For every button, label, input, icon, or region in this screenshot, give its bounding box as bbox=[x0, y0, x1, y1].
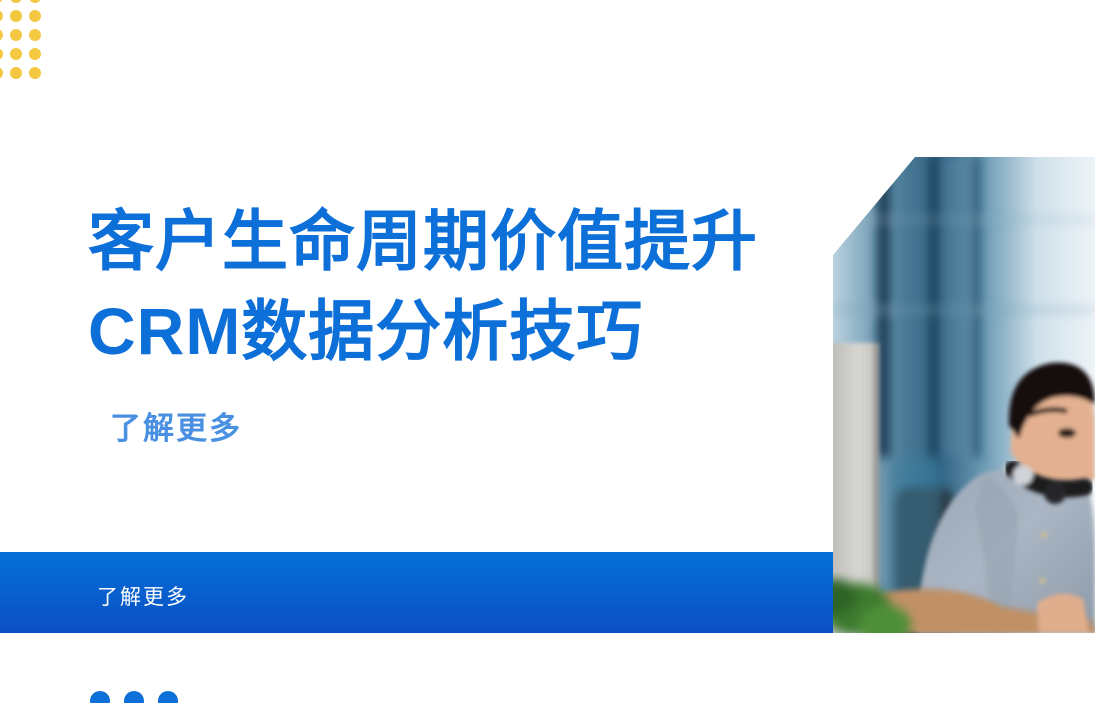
grid-dot bbox=[10, 48, 22, 60]
headline-line-2: CRM数据分析技巧 bbox=[88, 286, 828, 376]
page-title: 客户生命周期价值提升 CRM数据分析技巧 bbox=[88, 196, 828, 376]
headline-line-1: 客户生命周期价值提升 bbox=[88, 196, 828, 286]
cta-learn-more-label[interactable]: 了解更多 bbox=[97, 585, 189, 611]
grid-dot bbox=[10, 67, 22, 79]
grid-dot bbox=[29, 10, 41, 22]
carousel-dot-3[interactable] bbox=[158, 691, 178, 703]
grid-dot bbox=[29, 0, 41, 3]
grid-dot bbox=[29, 29, 41, 41]
grid-dot bbox=[10, 0, 22, 3]
grid-dot bbox=[10, 29, 22, 41]
grid-dot bbox=[0, 29, 3, 41]
yellow-dot-grid-icon bbox=[0, 0, 51, 86]
hero-photo bbox=[833, 157, 1095, 633]
grid-dot bbox=[10, 10, 22, 22]
grid-dot bbox=[0, 10, 3, 22]
grid-dot bbox=[0, 0, 3, 3]
hero-banner: 客户生命周期价值提升 CRM数据分析技巧 了解更多 了解更多 bbox=[0, 0, 1095, 703]
photo-icon bbox=[833, 157, 1095, 633]
carousel-dot-2[interactable] bbox=[124, 691, 144, 703]
grid-dot bbox=[0, 67, 3, 79]
carousel-indicators[interactable] bbox=[90, 691, 178, 703]
carousel-dot-1[interactable] bbox=[90, 691, 110, 703]
grid-dot bbox=[29, 67, 41, 79]
grid-dot bbox=[0, 48, 3, 60]
learn-more-link[interactable]: 了解更多 bbox=[110, 408, 242, 450]
grid-dot bbox=[29, 48, 41, 60]
